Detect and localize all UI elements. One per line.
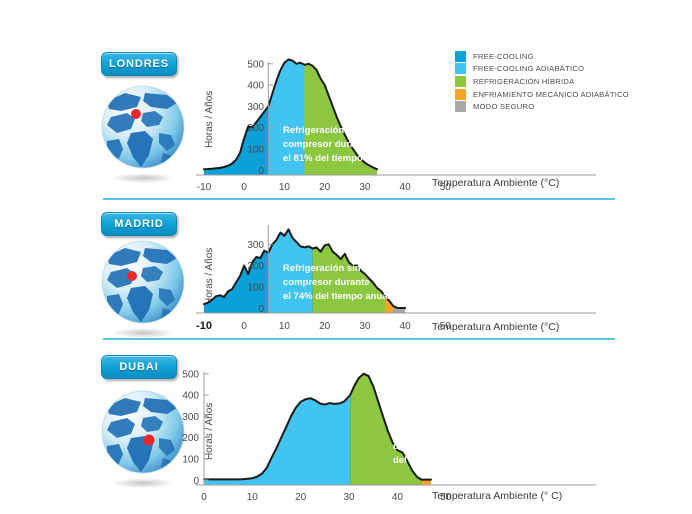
svg-text:400: 400 — [182, 391, 199, 402]
svg-text:20: 20 — [295, 492, 307, 503]
svg-text:100: 100 — [247, 145, 264, 156]
annotation-line: el 74% del tiempo anual — [283, 290, 390, 304]
location-marker-icon — [131, 109, 141, 119]
svg-text:300: 300 — [182, 412, 199, 423]
annotation-line: compresor durante — [283, 276, 390, 290]
legend-swatch-enfriamiento-mecanico — [455, 89, 466, 100]
globe-dubai — [97, 388, 193, 492]
globe-londres — [97, 83, 193, 187]
svg-text:500: 500 — [182, 370, 199, 381]
globe-madrid — [97, 238, 193, 342]
svg-text:400: 400 — [247, 81, 264, 92]
legend: FREE-COOLING FREE-COOLING ADIABÁTICO REF… — [455, 50, 629, 113]
annotation-line: Refrigeración sin — [283, 124, 390, 138]
svg-text:10: 10 — [247, 492, 259, 503]
svg-text:40: 40 — [400, 182, 412, 193]
legend-label: MODO SEGURO — [473, 102, 534, 111]
city-badge-madrid[interactable]: MADRID — [101, 212, 177, 236]
svg-text:-10: -10 — [197, 182, 212, 193]
annotation-line: Free-cooling — [393, 426, 495, 440]
annotation-line: compresor durante — [283, 138, 390, 152]
legend-item: FREE-COOLING — [455, 50, 629, 63]
legend-item: MODO SEGURO — [455, 100, 629, 113]
annotation-line: el 81% del tiempo anual — [283, 152, 390, 166]
legend-swatch-modo-seguro — [455, 101, 466, 112]
svg-text:10: 10 — [279, 321, 291, 332]
svg-text:20: 20 — [319, 321, 331, 332]
annotation-dubai: Free-cooling disponible para el 50% del … — [393, 426, 495, 468]
svg-text:0: 0 — [201, 492, 207, 503]
annotation-line: Refrigeración sin — [283, 262, 390, 276]
legend-item: REFRIGERACIÓN HÍBRIDA — [455, 75, 629, 88]
city-badge-label: LONDRES — [109, 58, 169, 70]
annotation-line: del tiempo anual — [393, 454, 495, 468]
svg-text:200: 200 — [182, 433, 199, 444]
legend-swatch-free-cooling-adiabatico — [455, 63, 466, 74]
svg-text:30: 30 — [343, 492, 355, 503]
svg-text:30: 30 — [359, 321, 371, 332]
city-badge-label: MADRID — [114, 218, 163, 230]
svg-text:10: 10 — [279, 182, 291, 193]
legend-item: FREE-COOLING ADIABÁTICO — [455, 63, 629, 76]
svg-text:40: 40 — [392, 492, 404, 503]
svg-text:0: 0 — [241, 182, 247, 193]
svg-text:50: 50 — [440, 321, 452, 332]
svg-text:20: 20 — [319, 182, 331, 193]
legend-label: FREE-COOLING — [473, 52, 534, 61]
legend-item: ENFRIAMIENTO MECÁNICO ADIABÁTICO — [455, 88, 629, 101]
svg-text:-10: -10 — [196, 320, 212, 332]
svg-text:50: 50 — [440, 182, 452, 193]
svg-text:50: 50 — [440, 492, 452, 503]
city-badge-dubai[interactable]: DUBAI — [101, 355, 177, 379]
svg-text:40: 40 — [400, 321, 412, 332]
chart-madrid: 300 200 100 0 -10 0 10 20 30 40 50 — [196, 213, 596, 333]
svg-text:300: 300 — [247, 102, 264, 113]
svg-text:100: 100 — [247, 283, 264, 294]
annotation-madrid: Refrigeración sin compresor durante el 7… — [283, 262, 390, 304]
city-badge-label: DUBAI — [119, 361, 158, 373]
city-badge-londres[interactable]: LONDRES — [101, 52, 177, 76]
svg-text:200: 200 — [247, 261, 264, 272]
svg-text:200: 200 — [247, 123, 264, 134]
annotation-londres: Refrigeración sin compresor durante el 8… — [283, 124, 390, 166]
legend-label: REFRIGERACIÓN HÍBRIDA — [473, 77, 574, 86]
svg-text:500: 500 — [247, 60, 264, 71]
legend-label: ENFRIAMIENTO MECÁNICO ADIABÁTICO — [473, 90, 629, 99]
legend-swatch-free-cooling — [455, 51, 466, 62]
location-marker-icon — [127, 271, 137, 281]
svg-text:100: 100 — [182, 455, 199, 466]
svg-text:0: 0 — [241, 321, 247, 332]
legend-label: FREE-COOLING ADIABÁTICO — [473, 64, 584, 73]
legend-swatch-refrigeracion-hibrida — [455, 76, 466, 87]
svg-text:30: 30 — [359, 182, 371, 193]
location-marker-icon — [144, 435, 155, 446]
svg-text:300: 300 — [247, 240, 264, 251]
annotation-line: disponible para el 50% — [393, 440, 495, 454]
